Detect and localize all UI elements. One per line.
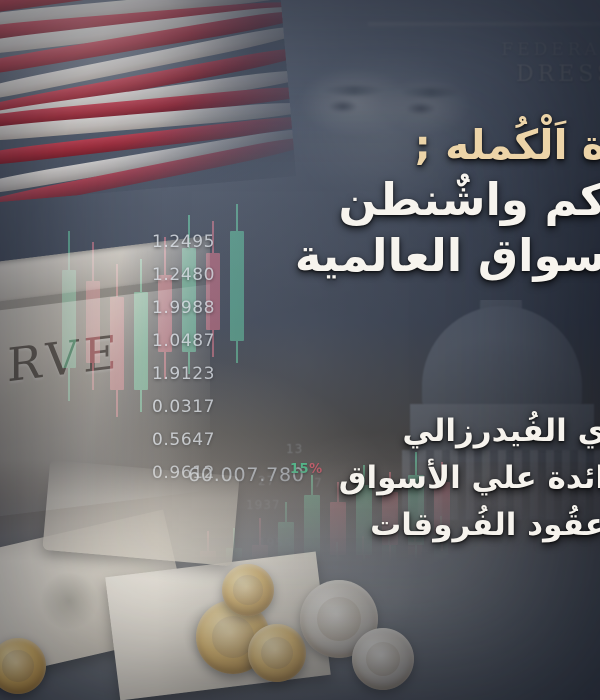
candle-body bbox=[330, 557, 344, 606]
subtitle-line: عقُود الفُروقات bbox=[46, 502, 600, 549]
dome-lantern bbox=[480, 284, 522, 314]
vignette-overlay bbox=[0, 0, 600, 700]
sky-background bbox=[0, 0, 600, 700]
candle-body bbox=[134, 292, 148, 390]
price-tick: 1.0487 bbox=[152, 331, 302, 351]
silver-coin bbox=[352, 628, 414, 690]
banknote-line1: FEDERAL bbox=[446, 40, 600, 60]
flag-stripe bbox=[0, 0, 296, 44]
candlestick bbox=[356, 536, 370, 650]
banknote-lettering: FEDERAL DRESS bbox=[446, 40, 600, 87]
building-engraved-text: SERVE bbox=[0, 318, 172, 401]
portrait-brow bbox=[322, 86, 386, 95]
dome-top bbox=[422, 306, 582, 410]
bill-portrait bbox=[166, 586, 260, 680]
thumbnail-canvas: FEDERAL DRESS SERVE 1.24951.24801.99881.… bbox=[0, 0, 600, 700]
candle-wick bbox=[336, 542, 338, 618]
headline-line: كم واشٌنطن bbox=[46, 172, 600, 229]
bill-portrait bbox=[21, 553, 117, 649]
gold-coin bbox=[222, 564, 274, 616]
candle-wick bbox=[116, 264, 118, 417]
headline-line: سواق العالمية bbox=[46, 228, 600, 285]
subtitle-line: ائدة علي الأسواق bbox=[46, 455, 600, 502]
subtitle-block: ي الفُيدرزاليائدة علي الأسواقعقُود الفُر… bbox=[46, 408, 600, 549]
silver-coin bbox=[300, 580, 378, 658]
flag-stripe bbox=[0, 0, 296, 33]
candle-body bbox=[200, 551, 216, 604]
flag-stripe bbox=[0, 20, 296, 109]
portrait-brow bbox=[400, 88, 462, 97]
portrait-eye bbox=[406, 102, 436, 115]
headline-block: ة اَلْكُمله ;كم واشٌنطنسواق العالمية bbox=[46, 120, 600, 285]
candle-body bbox=[158, 275, 172, 352]
candle-body bbox=[86, 281, 100, 363]
gold-coin bbox=[0, 638, 46, 694]
gold-coin bbox=[196, 600, 270, 674]
portrait-eye bbox=[328, 100, 358, 113]
text-scrim bbox=[0, 0, 600, 700]
banknote-border bbox=[368, 22, 600, 26]
candle-body bbox=[226, 548, 242, 605]
candle-body bbox=[110, 297, 124, 390]
dollar-bill bbox=[105, 552, 331, 700]
candle-body bbox=[382, 545, 396, 597]
gold-coin bbox=[248, 624, 306, 682]
flag-stripe bbox=[0, 6, 296, 84]
subtitle-line: ي الفُيدرزالي bbox=[46, 408, 600, 455]
flag-stripe bbox=[0, 0, 296, 21]
flag-stripe bbox=[0, 2, 296, 60]
price-tick: 1.9123 bbox=[152, 364, 302, 384]
ghost-number: 92 bbox=[386, 556, 403, 570]
headline-line: ة اَلْكُمله ; bbox=[46, 120, 600, 172]
candle-body bbox=[356, 554, 370, 598]
fog-overlay bbox=[0, 0, 600, 700]
candle-body bbox=[252, 545, 268, 592]
banknote-line2: DRESS bbox=[446, 62, 600, 87]
candlestick bbox=[330, 542, 344, 650]
sky-haze bbox=[0, 0, 600, 700]
price-tick: 1.9988 bbox=[152, 298, 302, 318]
flag-stripe bbox=[0, 42, 296, 127]
